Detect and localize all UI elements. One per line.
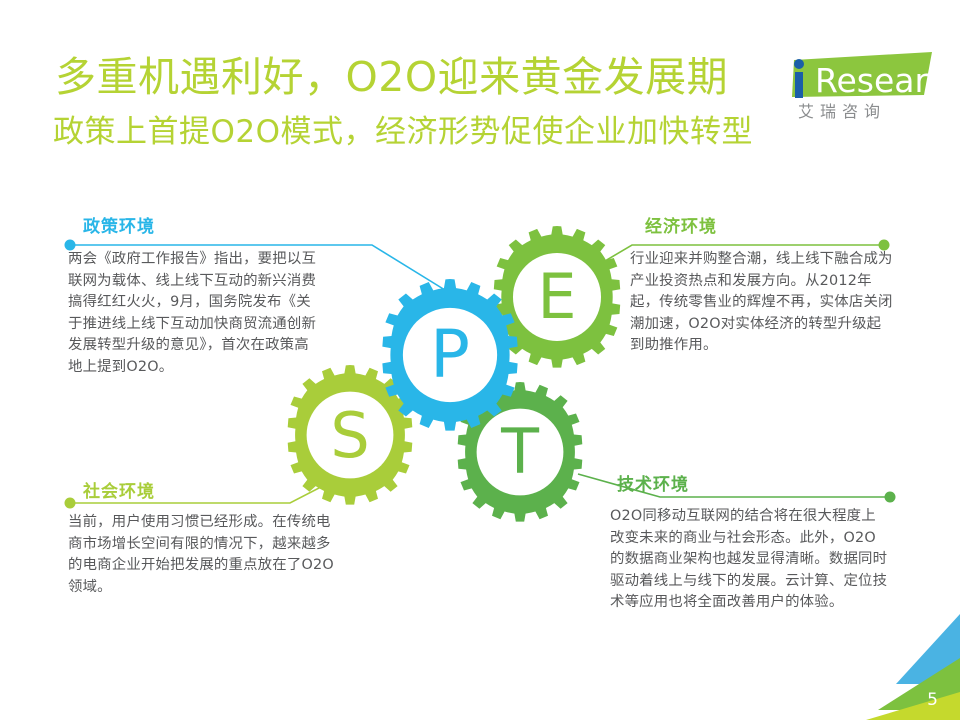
quadrant-heading-policy: 政策环境 [83, 212, 155, 237]
quadrant-heading-economy: 经济环境 [645, 212, 717, 237]
gear-policy [382, 279, 517, 431]
quadrant-heading-tech: 技术环境 [617, 470, 689, 495]
quadrant-body-economy: 行业迎来并购整合潮，线上线下融合成为产业投资热点和发展方向。从2012年起，传统… [630, 249, 895, 357]
connector-dot-society [65, 498, 76, 509]
quadrant-body-tech: O2O同移动互联网的结合将在很大程度上改变未来的商业与社会形态。此外，O2O的数… [610, 506, 890, 614]
corner-decoration [840, 600, 960, 720]
slide-canvas: 多重机遇利好，O2O迎来黄金发展期 政策上首提O2O模式，经济形势促使企业加快转… [0, 0, 960, 720]
quadrant-heading-society: 社会环境 [83, 477, 155, 502]
quadrant-body-society: 当前，用户使用习惯已经形成。在传统电商市场增长空间有限的情况下，越来越多的电商企… [68, 512, 336, 598]
page-number: 5 [927, 690, 938, 710]
connector-dot-tech [885, 492, 896, 503]
quadrant-body-policy: 两会《政府工作报告》指出，要把以互联网为载体、线上线下互动的新兴消费搞得红红火火… [68, 249, 318, 378]
